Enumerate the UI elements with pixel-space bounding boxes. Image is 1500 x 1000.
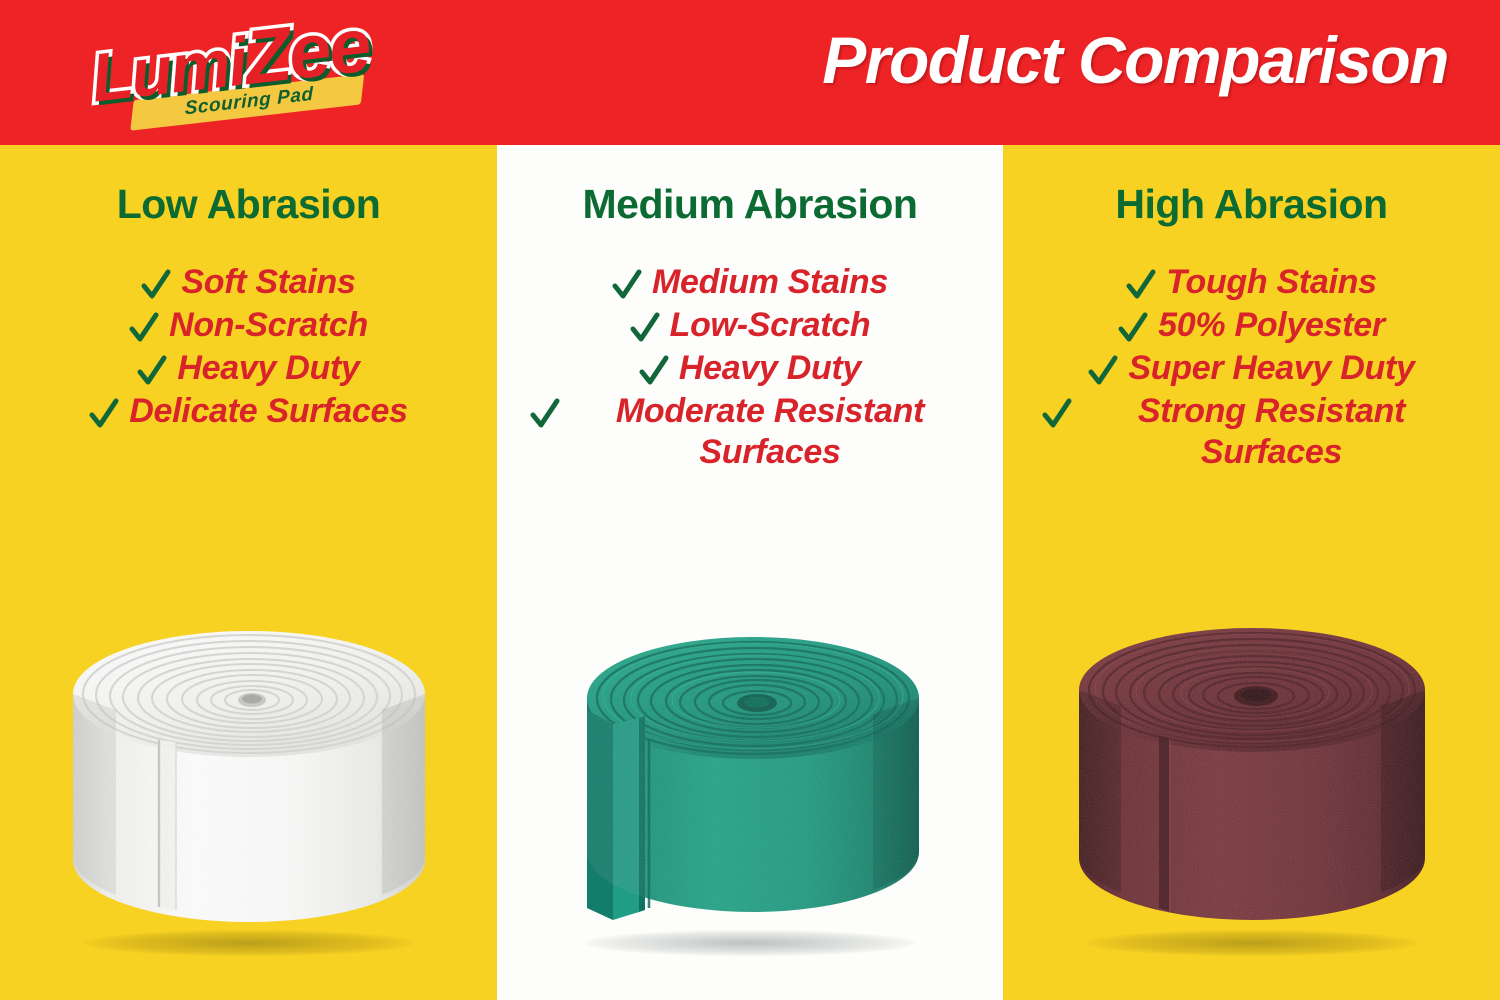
feature-label: Non-Scratch: [169, 305, 368, 346]
check-icon: [129, 310, 159, 346]
feature-label: Tough Stains: [1166, 262, 1376, 303]
feature-item: Heavy Duty: [639, 348, 861, 389]
page-title: Product Comparison: [822, 22, 1448, 98]
check-icon: [1118, 310, 1148, 346]
feature-label: Heavy Duty: [679, 348, 861, 389]
white-scouring-pad-roll: [60, 590, 438, 958]
feature-item: Delicate Surfaces: [89, 391, 407, 432]
feature-item: Heavy Duty: [137, 348, 359, 389]
column-medium-abrasion: Medium Abrasion Medium Stains Low-Scratc…: [497, 145, 1003, 1000]
feature-list-low: Soft Stains Non-Scratch Heavy Duty: [0, 262, 497, 434]
feature-label: Soft Stains: [181, 262, 355, 303]
product-image-high: [1003, 530, 1500, 1000]
column-heading-low: Low Abrasion: [0, 181, 497, 228]
column-heading-medium: Medium Abrasion: [497, 181, 1003, 228]
check-icon: [137, 353, 167, 389]
feature-item: Strong Resistant Surfaces: [1042, 391, 1462, 473]
feature-label: Medium Stains: [652, 262, 888, 303]
header-bar: LumiZee Scouring Pad Product Comparison: [0, 0, 1500, 145]
check-icon: [1126, 267, 1156, 303]
feature-label: Heavy Duty: [177, 348, 359, 389]
feature-label: Moderate Resistant Surfaces: [570, 391, 970, 473]
feature-item: Tough Stains: [1126, 262, 1376, 303]
feature-list-high: Tough Stains 50% Polyester Super Heavy D…: [1003, 262, 1500, 475]
feature-label: Strong Resistant Surfaces: [1082, 391, 1462, 473]
green-scouring-pad-roll: [561, 590, 939, 958]
maroon-scouring-pad-roll: [1063, 590, 1441, 958]
column-low-abrasion: Low Abrasion Soft Stains Non-Scratch: [0, 145, 497, 1000]
check-icon: [639, 353, 669, 389]
feature-label: Super Heavy Duty: [1128, 348, 1414, 389]
check-icon: [89, 396, 119, 432]
check-icon: [1042, 396, 1072, 432]
feature-label: Delicate Surfaces: [129, 391, 407, 432]
column-high-abrasion: High Abrasion Tough Stains 50% Polyester: [1003, 145, 1500, 1000]
feature-item: Super Heavy Duty: [1088, 348, 1414, 389]
feature-item: Low-Scratch: [630, 305, 871, 346]
feature-label: Low-Scratch: [670, 305, 871, 346]
brand-logo: LumiZee Scouring Pad: [92, 8, 422, 138]
feature-item: Moderate Resistant Surfaces: [530, 391, 970, 473]
check-icon: [1088, 353, 1118, 389]
feature-label: 50% Polyester: [1158, 305, 1385, 346]
feature-item: Medium Stains: [612, 262, 888, 303]
feature-item: 50% Polyester: [1118, 305, 1385, 346]
product-image-low: [0, 530, 497, 1000]
feature-item: Non-Scratch: [129, 305, 368, 346]
product-comparison-infographic: LumiZee Scouring Pad Product Comparison …: [0, 0, 1500, 1000]
check-icon: [612, 267, 642, 303]
comparison-columns: Low Abrasion Soft Stains Non-Scratch: [0, 145, 1500, 1000]
check-icon: [630, 310, 660, 346]
check-icon: [141, 267, 171, 303]
feature-item: Soft Stains: [141, 262, 355, 303]
check-icon: [530, 396, 560, 432]
product-image-medium: [497, 530, 1003, 1000]
column-heading-high: High Abrasion: [1003, 181, 1500, 228]
feature-list-medium: Medium Stains Low-Scratch Heavy Duty: [497, 262, 1003, 475]
